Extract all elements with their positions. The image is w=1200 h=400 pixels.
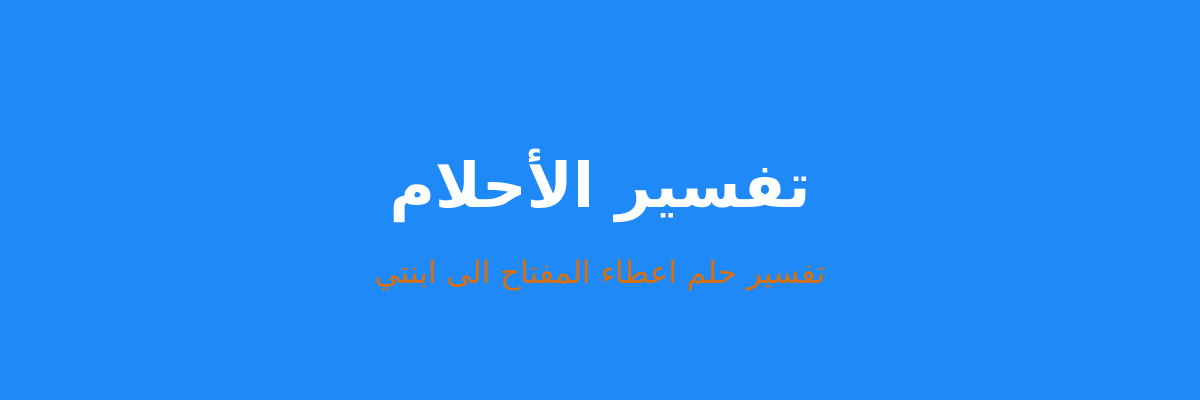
page-title: تفسير الأحلام [0,150,1200,221]
dream-interpretation-banner: تفسير الأحلام تفسير حلم اعطاء المفتاح ال… [0,0,1200,400]
page-subtitle: تفسير حلم اعطاء المفتاح الى ابنتي [0,253,1200,293]
